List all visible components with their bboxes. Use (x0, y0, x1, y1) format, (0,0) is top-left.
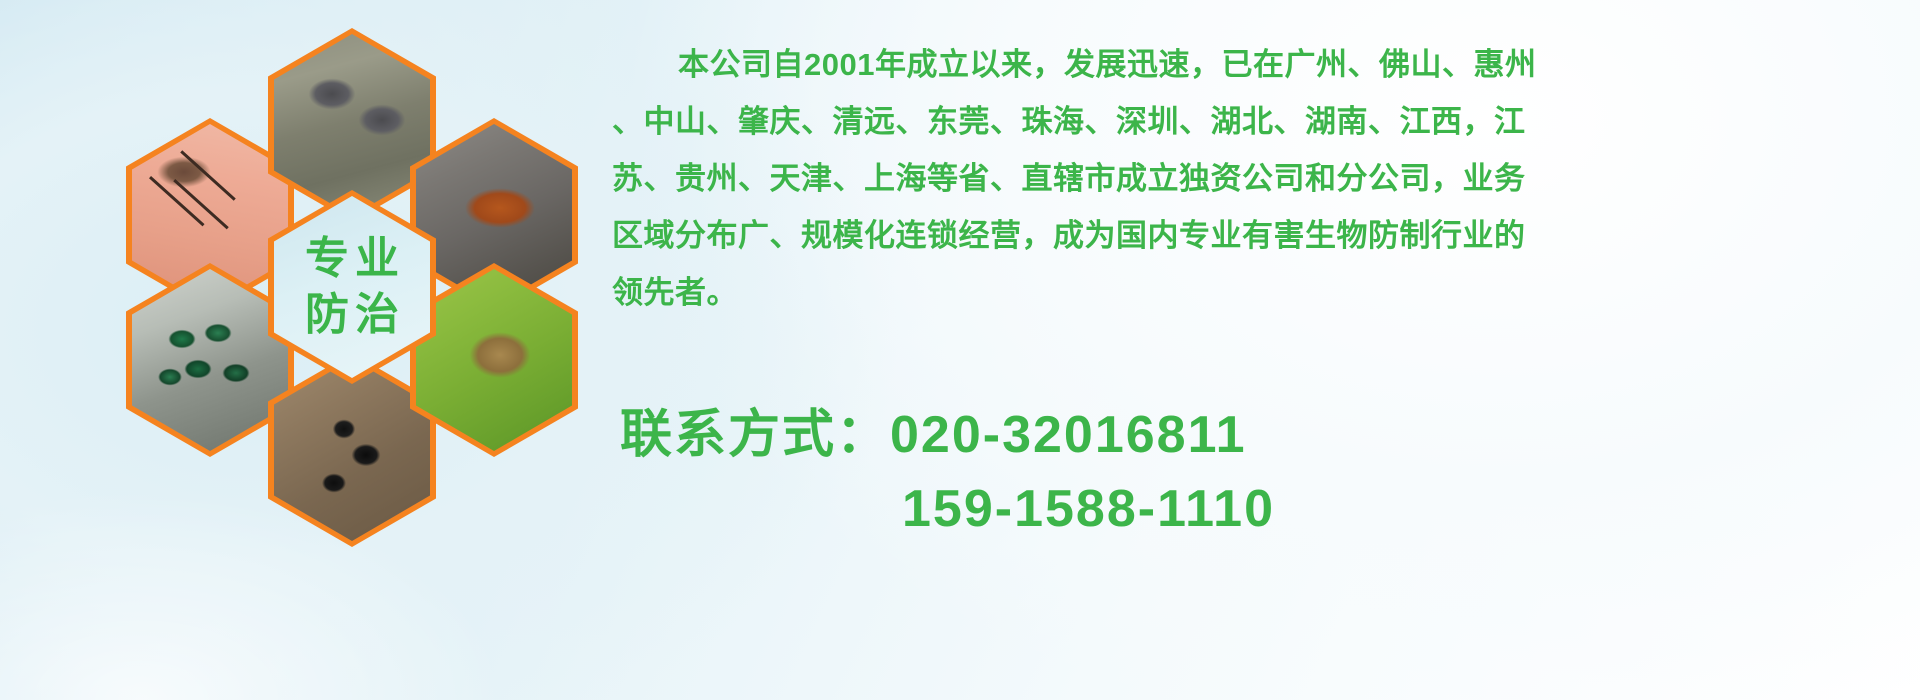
intro-line-3: 苏、贵州、天津、上海等省、直辖市成立独资公司和分公司，业务 (612, 150, 1904, 207)
slogan-line-1: 专业 (299, 231, 405, 287)
honeycomb-cluster: 专业 防治 (96, 8, 596, 568)
contact-phone-primary[interactable]: 联系方式：020-32016811 (620, 398, 1920, 472)
intro-line-1-text: 本公司自2001年成立以来，发展迅速，已在广州、佛山、惠州 (678, 47, 1536, 82)
intro-line-5: 领先者。 (612, 264, 1904, 321)
intro-line-2: 、中山、肇庆、清远、东莞、珠海、深圳、湖北、湖南、江西，江 (612, 93, 1904, 150)
company-intro-block: 本公司自2001年成立以来，发展迅速，已在广州、佛山、惠州 、中山、肇庆、清远、… (612, 36, 1904, 321)
intro-line-1: 本公司自2001年成立以来，发展迅速，已在广州、佛山、惠州 (612, 36, 1904, 93)
contact-phone-secondary[interactable]: 159-1588-1110 (620, 472, 1920, 546)
slogan-line-2: 防治 (299, 287, 405, 343)
intro-line-4: 区域分布广、规模化连锁经营，成为国内专业有害生物防制行业的 (612, 207, 1904, 264)
contact-block: 联系方式：020-32016811 159-1588-1110 (620, 398, 1920, 546)
banner-root: 专业 防治 本公司自2001年成立以来，发展迅速，已在广州、佛山、惠州 、中山、… (0, 0, 1920, 700)
hex-cell-slogan: 专业 防治 (268, 190, 436, 384)
